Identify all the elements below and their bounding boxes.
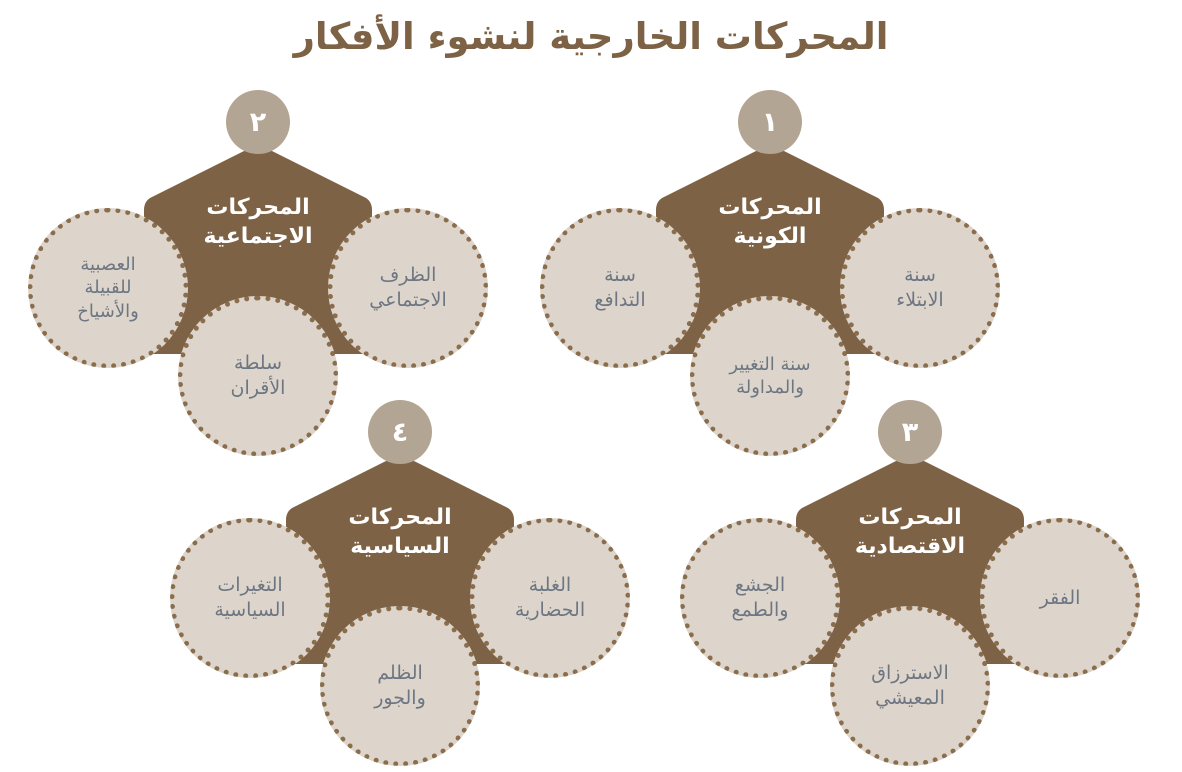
satellite-bottom[interactable]: الظلم والجور <box>320 606 480 766</box>
group-social-drivers: ٢ المحركات الاجتماعية العصبية للقبيلة وا… <box>28 90 488 430</box>
page-title: المحركات الخارجية لنشوء الأفكار <box>0 14 1182 60</box>
group-title: المحركات الاجتماعية <box>153 194 363 251</box>
satellite-bottom[interactable]: الاسترزاق المعيشي <box>830 606 990 766</box>
satellite-bottom[interactable]: سنة التغيير والمداولة <box>690 296 850 456</box>
group-number-badge: ٣ <box>878 400 942 464</box>
satellite-bottom[interactable]: سلطة الأقران <box>178 296 338 456</box>
group-cosmic-drivers: ١ المحركات الكونية سنة التدافع سنة التغي… <box>540 90 1000 430</box>
group-number-badge: ١ <box>738 90 802 154</box>
group-title: المحركات السياسية <box>295 504 505 561</box>
group-title: المحركات الاقتصادية <box>805 504 1015 561</box>
group-number-badge: ٤ <box>368 400 432 464</box>
group-title: المحركات الكونية <box>665 194 875 251</box>
group-number-badge: ٢ <box>226 90 290 154</box>
